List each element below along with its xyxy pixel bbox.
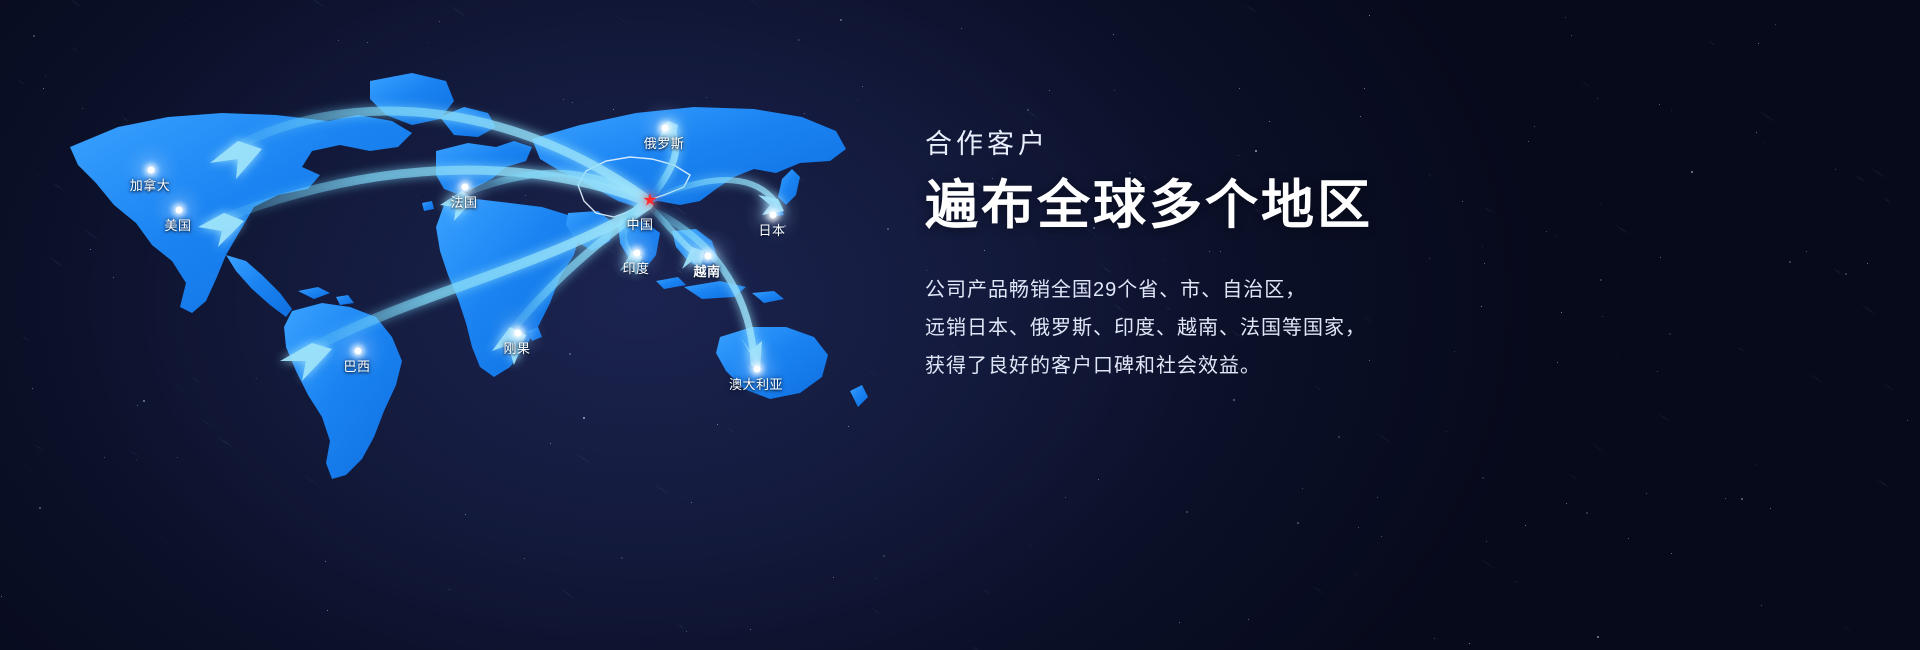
marker-label-japan: 日本 (758, 224, 785, 238)
marker-dot-canada[interactable] (148, 167, 155, 174)
marker-dot-russia[interactable] (662, 125, 669, 132)
marker-label-usa: 美国 (164, 219, 191, 233)
marker-label-australia: 澳大利亚 (729, 378, 783, 392)
description-line-1: 公司产品畅销全国29个省、市、自治区， (925, 271, 1755, 309)
marker-label-china: 中国 (626, 218, 653, 232)
world-map-svg (40, 55, 940, 555)
page-title: 遍布全球多个地区 (925, 175, 1755, 237)
marker-dot-congo[interactable] (515, 330, 522, 337)
marker-label-brazil: 巴西 (343, 360, 370, 374)
hero-banner: 加拿大 美国 巴西 刚果 法国 俄罗斯 印度 越南 日本 澳大利亚 ★ 中国 (0, 0, 1920, 650)
marker-dot-vietnam[interactable] (705, 253, 712, 260)
marker-dot-australia[interactable] (754, 366, 761, 373)
marker-label-congo: 刚果 (503, 342, 530, 356)
description-line-2: 远销日本、俄罗斯、印度、越南、法国等国家， (925, 309, 1755, 347)
hero-copy: 合作客户 遍布全球多个地区 公司产品畅销全国29个省、市、自治区， 远销日本、俄… (925, 125, 1755, 385)
description-line-3: 获得了良好的客户口碑和社会效益。 (925, 347, 1755, 385)
marker-dot-france[interactable] (462, 184, 469, 191)
marker-label-vietnam: 越南 (693, 265, 720, 279)
marker-dot-india[interactable] (634, 250, 641, 257)
marker-label-france: 法国 (450, 196, 477, 210)
world-map: 加拿大 美国 巴西 刚果 法国 俄罗斯 印度 越南 日本 澳大利亚 ★ 中国 (40, 55, 940, 555)
marker-label-canada: 加拿大 (130, 179, 171, 193)
description-paragraph: 公司产品畅销全国29个省、市、自治区， 远销日本、俄罗斯、印度、越南、法国等国家… (925, 271, 1755, 385)
marker-label-russia: 俄罗斯 (644, 137, 685, 151)
marker-dot-japan[interactable] (770, 212, 777, 219)
marker-label-india: 印度 (622, 262, 649, 276)
marker-dot-usa[interactable] (176, 207, 183, 214)
marker-dot-brazil[interactable] (355, 348, 362, 355)
eyebrow-text: 合作客户 (925, 125, 1755, 163)
map-landmasses (70, 73, 868, 479)
hq-star-icon: ★ (642, 192, 657, 209)
